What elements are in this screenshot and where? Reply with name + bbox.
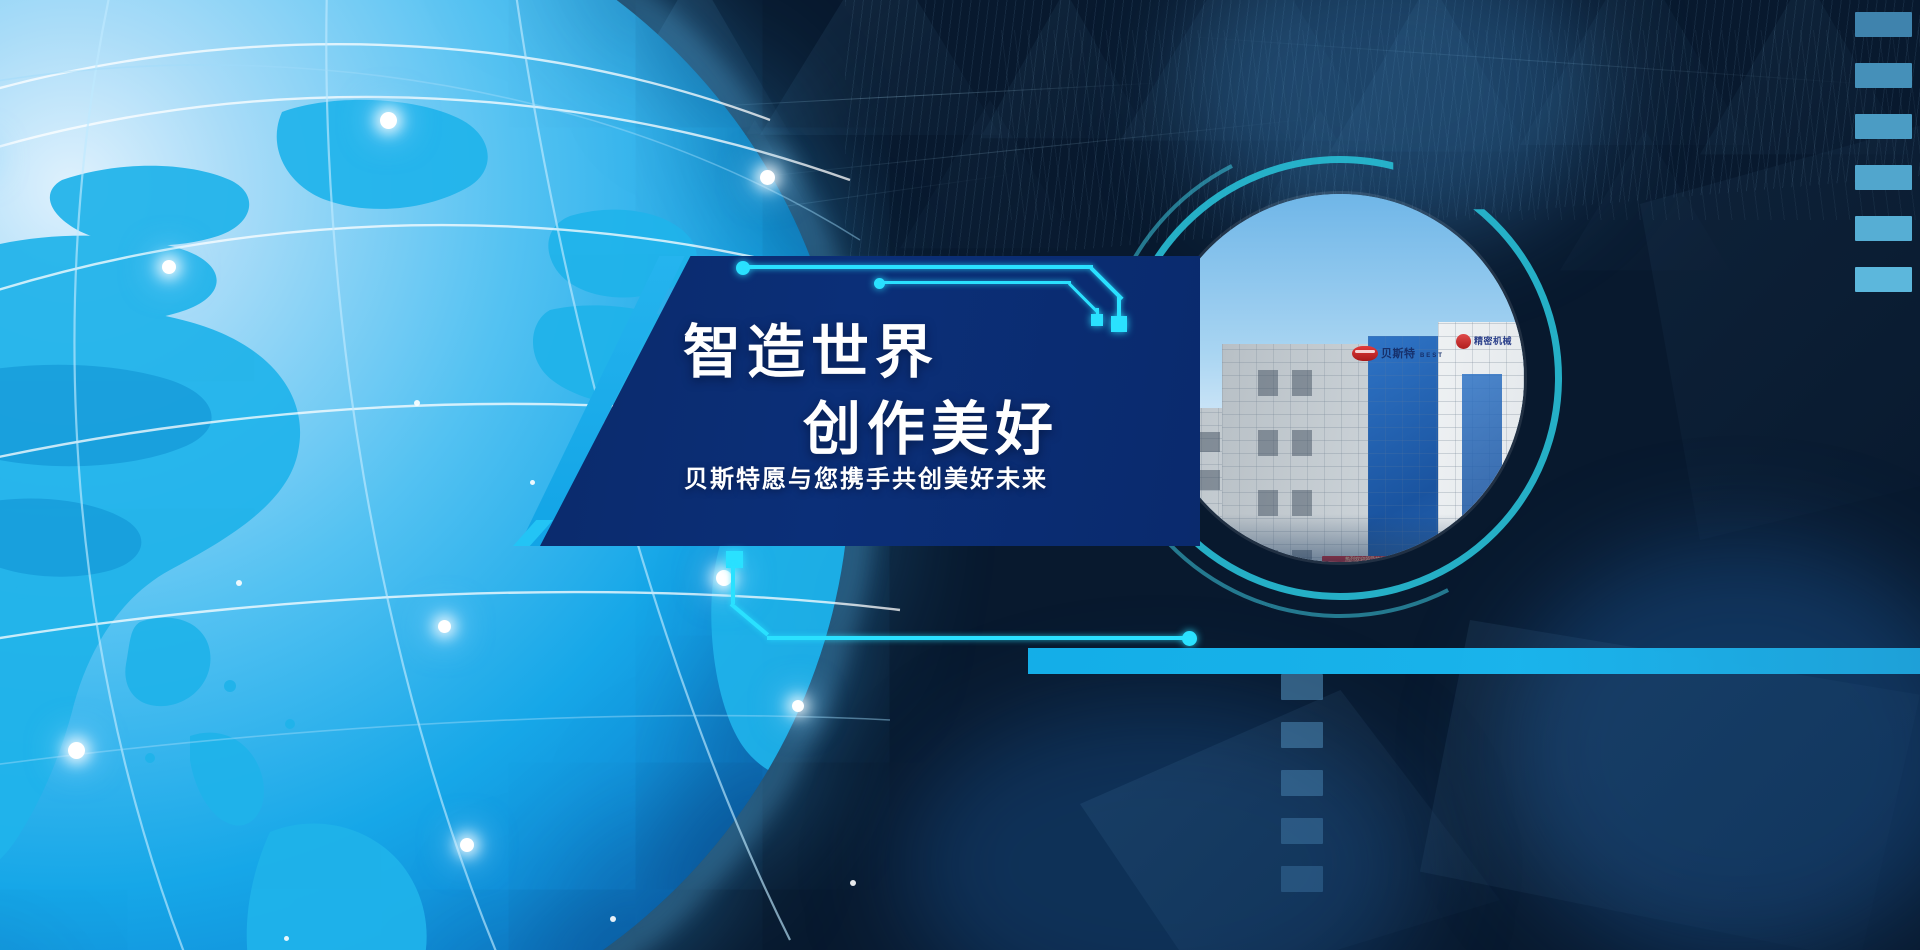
network-node — [760, 170, 775, 185]
circuit-line — [883, 281, 1071, 284]
network-node — [68, 742, 85, 759]
dash-mark — [1855, 63, 1912, 88]
banner-subtitle: 贝斯特愿与您携手共创美好未来 — [684, 459, 1048, 494]
building-sign-secondary: 精密机械 — [1456, 334, 1512, 349]
circuit-line — [748, 265, 1093, 269]
headline-line-1: 智造世界 — [683, 305, 939, 389]
network-dot — [414, 400, 420, 406]
building-photo: 贝斯特 BEST 精密机械 热烈欢迎领导莅临指导 — [1156, 194, 1524, 562]
dash-mark — [1281, 866, 1323, 892]
network-dot — [284, 936, 289, 941]
circuit-line-vertical — [731, 566, 735, 604]
secondary-sign-zh: 精密机械 — [1474, 337, 1512, 346]
building-sign-zh: 贝斯特 — [1381, 348, 1416, 360]
network-node — [460, 838, 474, 852]
dash-mark — [1281, 818, 1323, 844]
dash-mark — [1855, 12, 1912, 37]
photo-bottom-shade — [1156, 514, 1524, 562]
headline-line-2: 创作美好 — [803, 382, 1059, 466]
circuit-node-square — [1091, 314, 1103, 326]
circuit-node-dot — [1182, 631, 1197, 646]
building-sign-en: BEST — [1420, 353, 1444, 359]
network-node — [716, 570, 732, 586]
network-dot — [530, 480, 535, 485]
network-dot — [850, 880, 856, 886]
network-node — [162, 260, 176, 274]
dash-stack-right — [1855, 12, 1912, 292]
network-node — [792, 700, 804, 712]
building-sign-best: 贝斯特 BEST — [1352, 344, 1444, 362]
network-node — [438, 620, 451, 633]
dash-mark — [1855, 267, 1912, 292]
dash-mark — [1855, 114, 1912, 139]
accent-bar-bottom — [1028, 648, 1920, 674]
hero-banner: 贝斯特 BEST 精密机械 热烈欢迎领导莅临指导 — [0, 0, 1920, 950]
network-node — [380, 112, 397, 129]
dash-mark — [1855, 165, 1912, 190]
network-dot — [610, 916, 616, 922]
logo-mark — [1352, 346, 1378, 361]
dash-mark — [1281, 674, 1323, 700]
dash-mark — [1855, 216, 1912, 241]
dash-mark — [1281, 722, 1323, 748]
dash-stack-center — [1281, 674, 1323, 892]
dash-mark — [1281, 770, 1323, 796]
network-dot — [236, 580, 242, 586]
circuit-node-square — [1111, 316, 1127, 332]
logo-dot — [1456, 334, 1471, 349]
company-photo-circle: 贝斯特 BEST 精密机械 热烈欢迎领导莅临指导 — [1140, 178, 1540, 578]
circuit-line — [767, 636, 1187, 640]
